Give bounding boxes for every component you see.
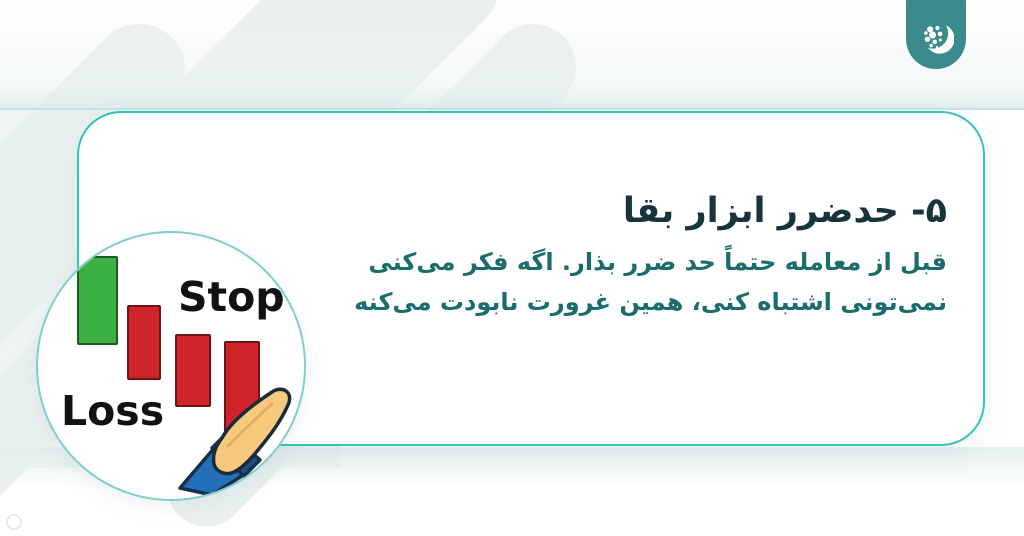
text-block: ۵- حدضرر ابزار بقا قبل از معامله حتماً ح… — [287, 191, 947, 322]
open-hand-catching-icon — [172, 368, 302, 498]
body-paragraph: قبل از معامله حتماً حد ضرر بذار. اگه فکر… — [287, 243, 947, 322]
body-line-1: قبل از معامله حتماً حد ضرر بذار. اگه فکر… — [368, 248, 947, 276]
candlestick-bearish — [127, 305, 161, 380]
stop-label: Stop — [178, 277, 285, 318]
page-title: ۵- حدضرر ابزار بقا — [287, 191, 947, 231]
bubble-cluster-logo-icon — [918, 19, 954, 55]
top-tint-gradient — [0, 0, 1024, 110]
candlestick-bullish — [77, 256, 118, 345]
loss-label: Loss — [61, 391, 164, 432]
horizontal-hairline — [0, 108, 1024, 110]
illustration-badge: Stop Loss — [36, 231, 306, 501]
body-line-2: نمی‌تونی اشتباه کنی، همین غرورت نابودت م… — [354, 288, 947, 316]
brand-logo — [906, 0, 966, 69]
faint-circle-watermark-icon — [6, 514, 22, 530]
illustration-inner: Stop Loss — [38, 233, 304, 499]
poster-canvas: ۵- حدضرر ابزار بقا قبل از معامله حتماً ح… — [0, 0, 1024, 536]
